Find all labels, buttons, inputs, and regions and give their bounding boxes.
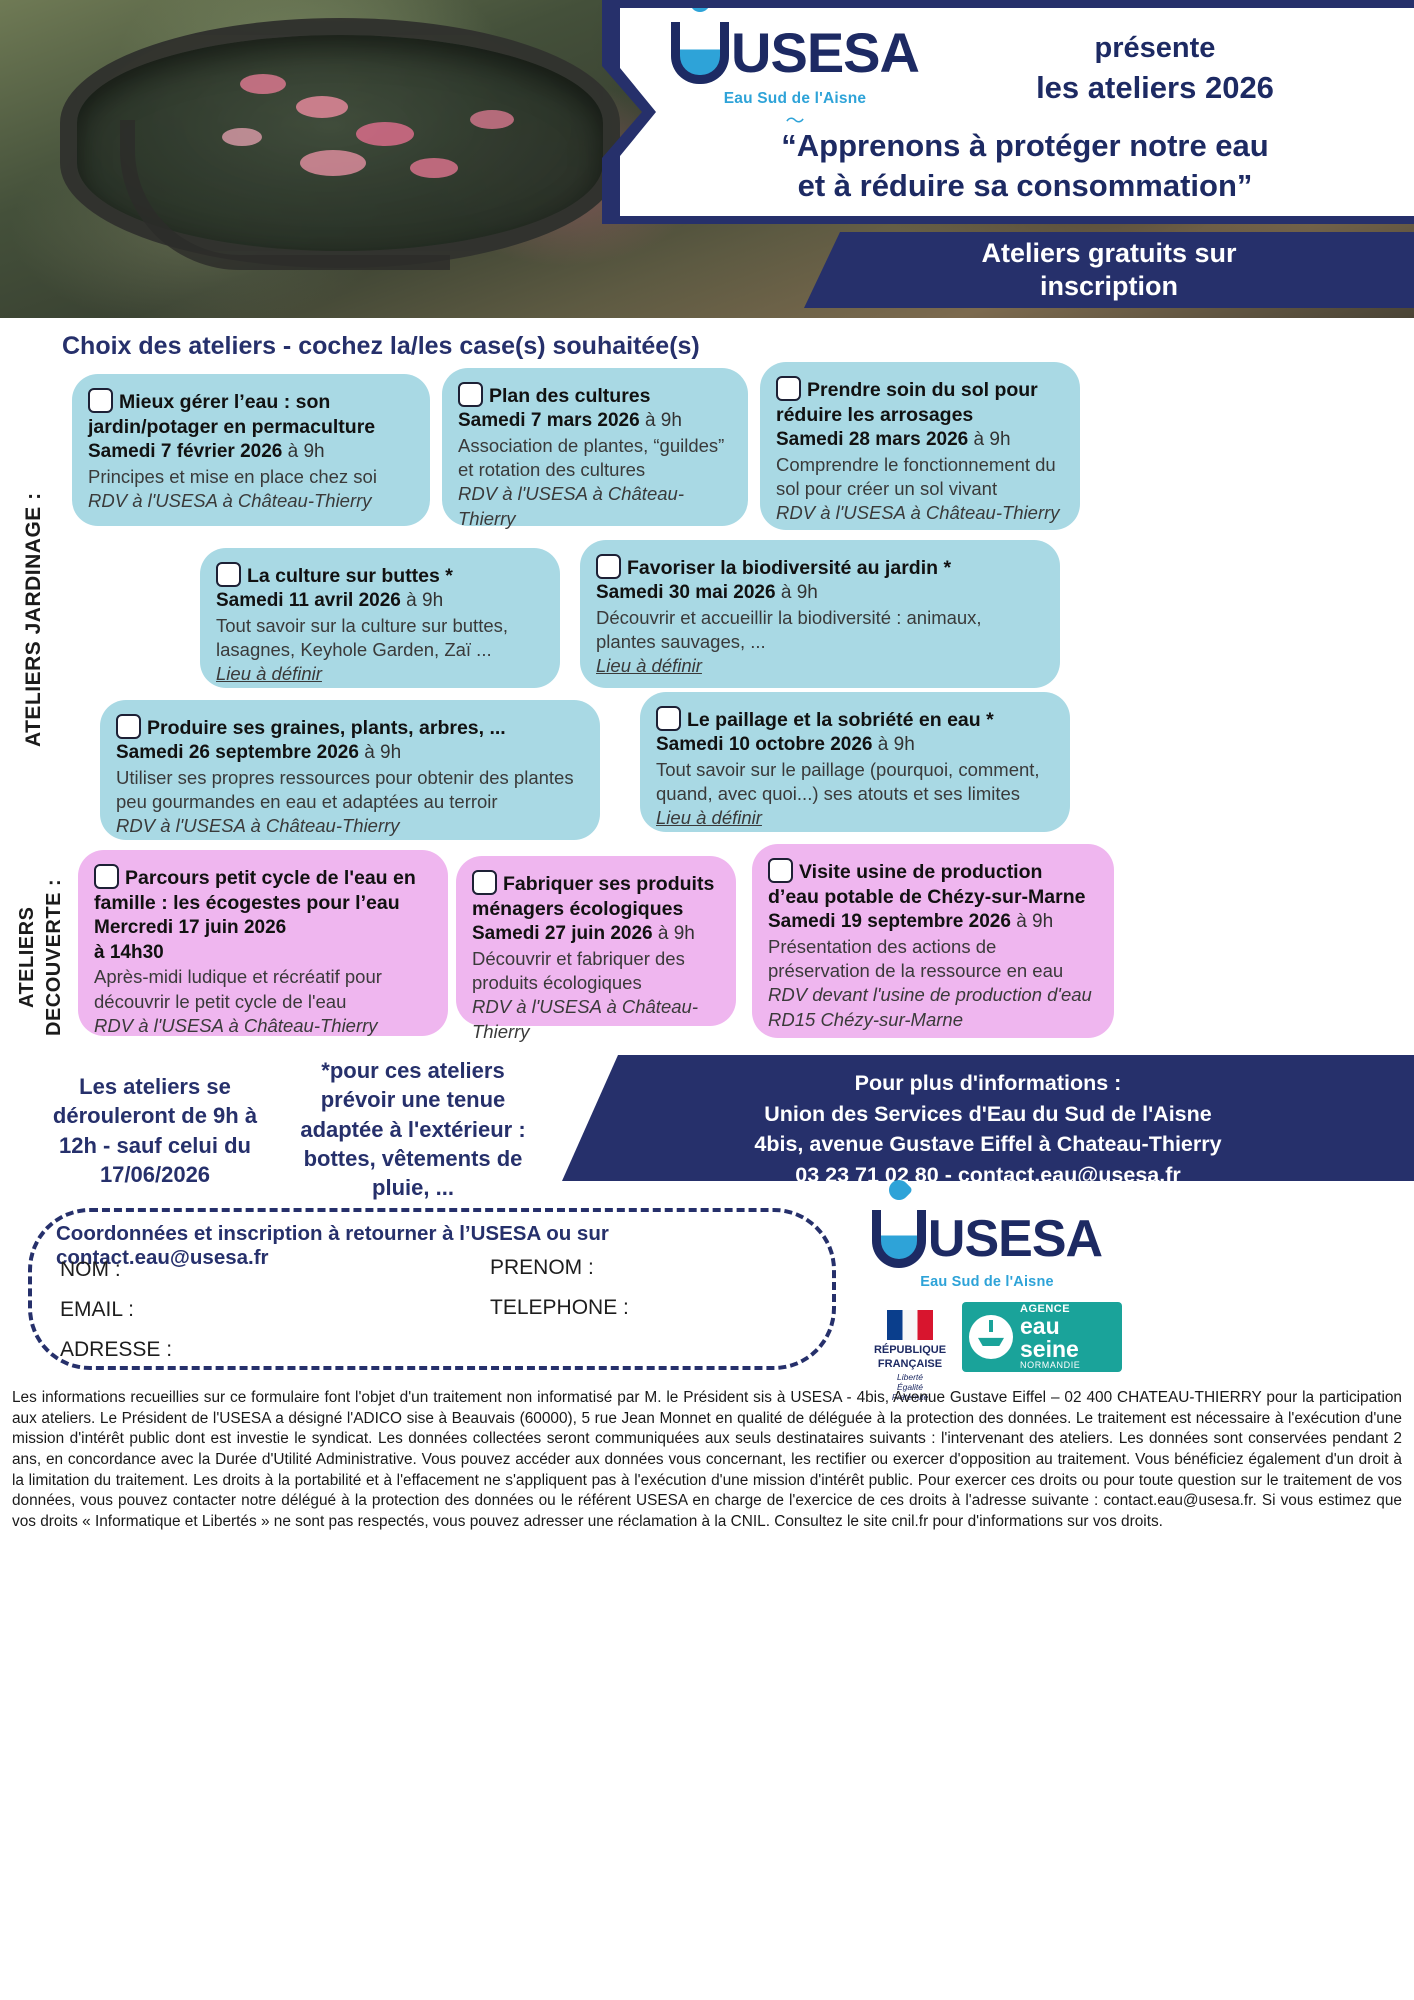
petal-icon [222, 128, 262, 146]
workshop-desc: Principes et mise en place chez soi [88, 465, 414, 489]
hero-title-card-inner: USESA Eau Sud de l'Aisne 〜 présente les … [620, 8, 1414, 216]
petal-icon [240, 74, 286, 94]
workshop-location: RDV à l'USESA à Château-Thierry [776, 501, 1064, 525]
workshop-title-row: Fabriquer ses produits ménagers écologiq… [472, 870, 720, 922]
hero-title-card: USESA Eau Sud de l'Aisne 〜 présente les … [602, 0, 1414, 224]
workshop-title-row: Plan des cultures [458, 382, 732, 409]
workshop-time: à 9h [1011, 911, 1053, 932]
checkbox-produits-menagers[interactable] [472, 870, 497, 895]
workshop-desc: Utiliser ses propres ressources pour obt… [116, 766, 584, 815]
checkbox-permaculture[interactable] [88, 388, 113, 413]
workshop-time: à 9h [873, 734, 915, 755]
usesa-tagline: Eau Sud de l'Aisne [665, 90, 925, 108]
checkbox-produire-graines[interactable] [116, 714, 141, 739]
workshop-date: Mercredi 17 juin 2026 [94, 917, 286, 938]
flyer-page: USESA Eau Sud de l'Aisne 〜 présente les … [0, 0, 1414, 2000]
info-line4: 03 23 71 02 80 - contact.eau@usesa.fr [562, 1160, 1414, 1191]
workshop-card-produire-graines[interactable]: Produire ses graines, plants, arbres, ..… [100, 700, 600, 840]
ae-line4: NORMANDIE [1020, 1361, 1080, 1370]
workshop-desc: Après-midi ludique et récréatif pour déc… [94, 965, 432, 1014]
usesa-logo-row: USESA [665, 22, 925, 84]
workshop-date-row: Samedi 7 mars 2026 à 9h [458, 409, 732, 434]
rf-line2: FRANÇAISE [868, 1358, 952, 1372]
footer-usesa-tagline: Eau Sud de l'Aisne [862, 1274, 1112, 1290]
checkbox-biodiversite[interactable] [596, 554, 621, 579]
field-nom[interactable]: NOM : [60, 1258, 121, 1282]
workshop-time: à 9h [968, 429, 1010, 450]
workshop-date-row: Samedi 27 juin 2026 à 9h [472, 922, 720, 947]
usesa-wordmark: USESA [731, 25, 919, 81]
workshop-location: RDV à l'USESA à Château-Thierry [94, 1014, 432, 1038]
slogan-block: “Apprenons à protéger notre eau et à réd… [660, 126, 1390, 205]
workshop-card-paillage[interactable]: Le paillage et la sobriété en eau * Same… [640, 692, 1070, 832]
workshop-card-soin-du-sol[interactable]: Prendre soin du sol pour réduire les arr… [760, 362, 1080, 530]
form-title: Coordonnées et inscription à retourner à… [56, 1222, 816, 1270]
petal-icon [356, 122, 414, 146]
workshop-title: Le paillage et la sobriété en eau * [687, 709, 994, 731]
french-flag-icon [887, 1310, 933, 1340]
workshop-date-row: Samedi 26 septembre 2026 à 9h [116, 741, 584, 766]
agence-eau-seine-normandie-logo: AGENCE eau seine NORMANDIE [962, 1302, 1122, 1372]
field-telephone[interactable]: TELEPHONE : [490, 1296, 629, 1320]
workshop-time: à 9h [359, 742, 401, 763]
workshop-time: à 9h [640, 410, 682, 431]
workshop-card-biodiversite[interactable]: Favoriser la biodiversité au jardin * Sa… [580, 540, 1060, 688]
workshop-card-parcours-eau[interactable]: Parcours petit cycle de l'eau en famille… [78, 850, 448, 1036]
workshop-location: Lieu à définir [656, 806, 1054, 830]
note-schedule: Les ateliers se dérouleront de 9h à 12h … [40, 1072, 270, 1189]
checkbox-plan-cultures[interactable] [458, 382, 483, 407]
workshop-time: à 9h [282, 441, 324, 462]
legal-privacy-text: Les informations recueillies sur ce form… [12, 1388, 1402, 1532]
field-email[interactable]: EMAIL : [60, 1298, 134, 1322]
workshop-card-permaculture[interactable]: Mieux gérer l’eau : son jardin/potager e… [72, 374, 430, 526]
petal-icon [300, 150, 366, 176]
workshop-title: Mieux gérer l’eau : son jardin/potager e… [88, 391, 375, 438]
free-badge-line1: Ateliers gratuits sur [981, 237, 1236, 270]
info-line2: Union des Services d'Eau du Sud de l'Ais… [562, 1099, 1414, 1130]
info-line1: Pour plus d'informations : [562, 1068, 1414, 1099]
workshop-title: Parcours petit cycle de l'eau en famille… [94, 867, 416, 914]
water-drop-icon [686, 0, 714, 16]
petal-icon [296, 96, 348, 118]
presente-block: présente les ateliers 2026 [940, 30, 1370, 108]
info-line3: 4bis, avenue Gustave Eiffel à Chateau-Th… [562, 1129, 1414, 1160]
workshop-date: Samedi 28 mars 2026 [776, 429, 968, 450]
presente-line1: présente [940, 30, 1370, 68]
workshop-desc: Découvrir et fabriquer des produits écol… [472, 947, 720, 996]
usesa-logo: USESA Eau Sud de l'Aisne 〜 [665, 22, 925, 131]
workshop-title: Visite usine de production d’eau potable… [768, 861, 1085, 908]
workshop-title-row: Prendre soin du sol pour réduire les arr… [776, 376, 1064, 428]
slogan-line1: “Apprenons à protéger notre eau [660, 126, 1390, 166]
slogan-line2: et à réduire sa consommation” [660, 166, 1390, 206]
workshop-date: Samedi 7 mars 2026 [458, 410, 640, 431]
workshop-title: Favoriser la biodiversité au jardin * [627, 557, 951, 579]
workshop-title: La culture sur buttes * [247, 565, 453, 587]
workshop-date-row: Samedi 11 avril 2026 à 9h [216, 589, 544, 614]
water-drop-u-icon [671, 22, 729, 84]
workshop-title-row: Produire ses graines, plants, arbres, ..… [116, 714, 584, 741]
category-label-jardinage: ATELIERS JARDINAGE : [22, 480, 46, 760]
category-label-decouverte: ATELIERS DECOUVERTE : [14, 862, 68, 1052]
workshop-time: à 9h [401, 590, 443, 611]
checkbox-soin-du-sol[interactable] [776, 376, 801, 401]
workshop-card-plan-cultures[interactable]: Plan des cultures Samedi 7 mars 2026 à 9… [442, 368, 748, 526]
checkbox-visite-usine[interactable] [768, 858, 793, 883]
workshop-title: Produire ses graines, plants, arbres, ..… [147, 717, 506, 739]
workshop-time: à 9h [653, 923, 695, 944]
workshop-title-row: Le paillage et la sobriété en eau * [656, 706, 1054, 733]
checkbox-culture-buttes[interactable] [216, 562, 241, 587]
workshop-desc: Tout savoir sur la culture sur buttes, l… [216, 614, 544, 663]
presente-line2: les ateliers 2026 [940, 68, 1370, 108]
agence-eau-text: AGENCE eau seine NORMANDIE [1020, 1304, 1080, 1370]
footer-usesa-wordmark: USESA [928, 1213, 1102, 1265]
workshop-date-row: Mercredi 17 juin 2026 [94, 916, 432, 941]
boat-icon [969, 1315, 1013, 1359]
workshop-date: Samedi 26 septembre 2026 [116, 742, 359, 763]
free-badge-line2: inscription [981, 270, 1236, 303]
workshop-date: Samedi 7 février 2026 [88, 441, 282, 462]
workshop-title-row: Visite usine de production d’eau potable… [768, 858, 1098, 910]
workshop-title-row: La culture sur buttes * [216, 562, 544, 589]
workshop-date-row: Samedi 10 octobre 2026 à 9h [656, 733, 1054, 758]
hero-banner: USESA Eau Sud de l'Aisne 〜 présente les … [0, 0, 1414, 318]
checkbox-parcours-eau[interactable] [94, 864, 119, 889]
petal-icon [410, 158, 458, 178]
workshop-date-row: Samedi 28 mars 2026 à 9h [776, 428, 1064, 453]
workshop-title: Plan des cultures [489, 385, 650, 407]
footer-usesa-logo: USESA Eau Sud de l'Aisne [862, 1210, 1112, 1290]
rf-line1: RÉPUBLIQUE [868, 1344, 952, 1358]
workshop-date: Samedi 27 juin 2026 [472, 923, 653, 944]
workshop-date: Samedi 19 septembre 2026 [768, 911, 1011, 932]
field-prenom[interactable]: PRENOM : [490, 1256, 594, 1280]
workshop-date: Samedi 10 octobre 2026 [656, 734, 873, 755]
workshop-desc: Comprendre le fonctionnement du sol pour… [776, 453, 1064, 502]
workshop-title-row: Mieux gérer l’eau : son jardin/potager e… [88, 388, 414, 440]
workshop-desc: Tout savoir sur le paillage (pourquoi, c… [656, 758, 1054, 807]
workshop-date-row: Samedi 30 mai 2026 à 9h [596, 581, 1044, 606]
workshop-desc: Découvrir et accueillir la biodiversité … [596, 606, 1044, 655]
workshop-card-produits-menagers[interactable]: Fabriquer ses produits ménagers écologiq… [456, 856, 736, 1026]
note-clothing: *pour ces ateliers prévoir une tenue ada… [288, 1056, 538, 1202]
workshop-date-row: Samedi 19 septembre 2026 à 9h [768, 910, 1098, 935]
footer-usesa-logo-row: USESA [862, 1210, 1112, 1268]
workshop-desc: Association de plantes, “guildes” et rot… [458, 434, 732, 483]
workshop-card-visite-usine[interactable]: Visite usine de production d’eau potable… [752, 844, 1114, 1038]
ae-line2: eau [1020, 1315, 1080, 1338]
workshop-card-culture-buttes[interactable]: La culture sur buttes * Samedi 11 avril … [200, 548, 560, 688]
workshop-location: Lieu à définir [216, 662, 544, 686]
workshop-desc: Présentation des actions de préservation… [768, 935, 1098, 984]
petal-icon [470, 110, 514, 129]
workshop-title: Fabriquer ses produits ménagers écologiq… [472, 873, 714, 920]
workshop-title-row: Favoriser la biodiversité au jardin * [596, 554, 1044, 581]
workshop-location: RDV à l'USESA à Château-Thierry [88, 489, 414, 513]
workshop-time: à 9h [776, 582, 818, 603]
workshop-location: RDV devant l'usine de production d'eau R… [768, 983, 1098, 1032]
water-drop-u-icon [872, 1210, 926, 1268]
workshop-title-row: Parcours petit cycle de l'eau en famille… [94, 864, 432, 916]
section-title: Choix des ateliers - cochez la/les case(… [62, 332, 700, 361]
workshop-date-row: Samedi 7 février 2026 à 9h [88, 440, 414, 465]
workshop-date: Samedi 11 avril 2026 [216, 590, 401, 611]
field-adresse[interactable]: ADRESSE : [60, 1338, 172, 1362]
workshop-title: Prendre soin du sol pour réduire les arr… [776, 379, 1038, 426]
workshop-location: Lieu à définir [596, 654, 1044, 678]
workshop-location: RDV à l'USESA à Château-Thierry [116, 814, 584, 838]
contact-info-banner: Pour plus d'informations : Union des Ser… [562, 1055, 1414, 1181]
free-workshops-badge: Ateliers gratuits sur inscription [804, 232, 1414, 308]
workshop-location: RDV à l'USESA à Château-Thierry [458, 482, 732, 531]
workshop-date: Samedi 30 mai 2026 [596, 582, 776, 603]
ae-line3: seine [1020, 1338, 1080, 1361]
checkbox-paillage[interactable] [656, 706, 681, 731]
workshop-time-highlight: à 14h30 [94, 941, 432, 966]
workshop-location: RDV à l'USESA à Château-Thierry [472, 995, 720, 1044]
